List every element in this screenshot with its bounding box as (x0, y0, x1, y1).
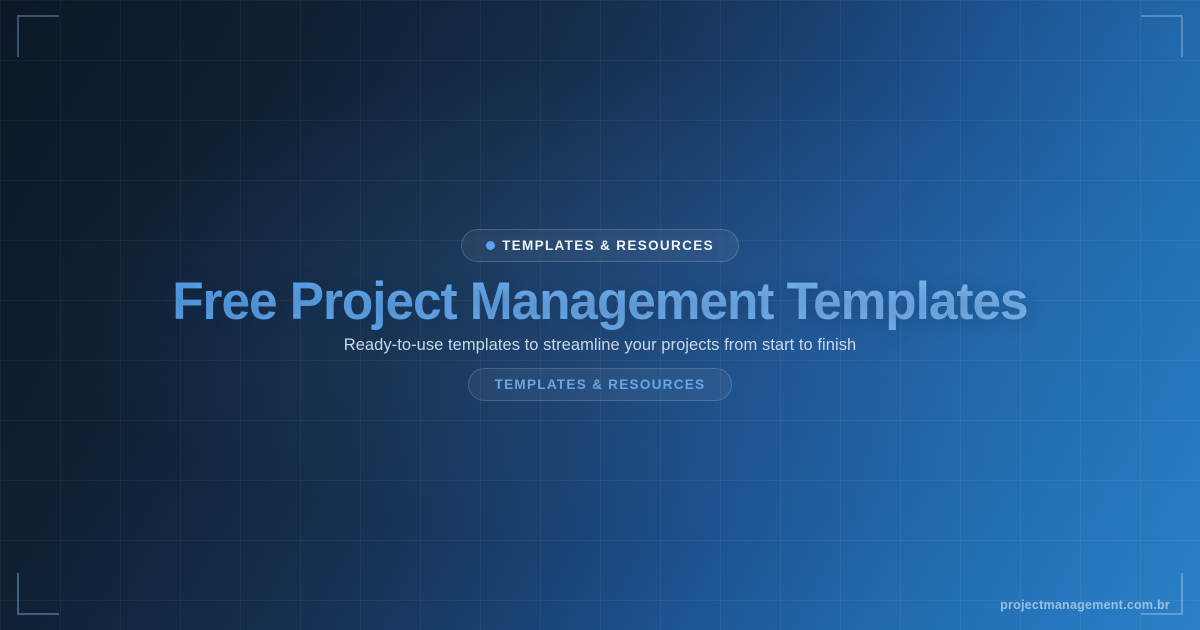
page-title: Free Project Management Templates (172, 274, 1027, 329)
hero-banner: TEMPLATES & RESOURCES Free Project Manag… (0, 0, 1200, 630)
category-badge: TEMPLATES & RESOURCES (461, 229, 739, 262)
hero-subtitle: Ready-to-use templates to streamline you… (344, 336, 857, 355)
hero-content: TEMPLATES & RESOURCES Free Project Manag… (0, 0, 1200, 630)
templates-resources-button[interactable]: TEMPLATES & RESOURCES (468, 368, 733, 401)
site-watermark: projectmanagement.com.br (1000, 598, 1170, 612)
templates-resources-button-label: TEMPLATES & RESOURCES (495, 377, 706, 392)
category-badge-label: TEMPLATES & RESOURCES (502, 238, 714, 253)
dot-icon (486, 241, 495, 250)
